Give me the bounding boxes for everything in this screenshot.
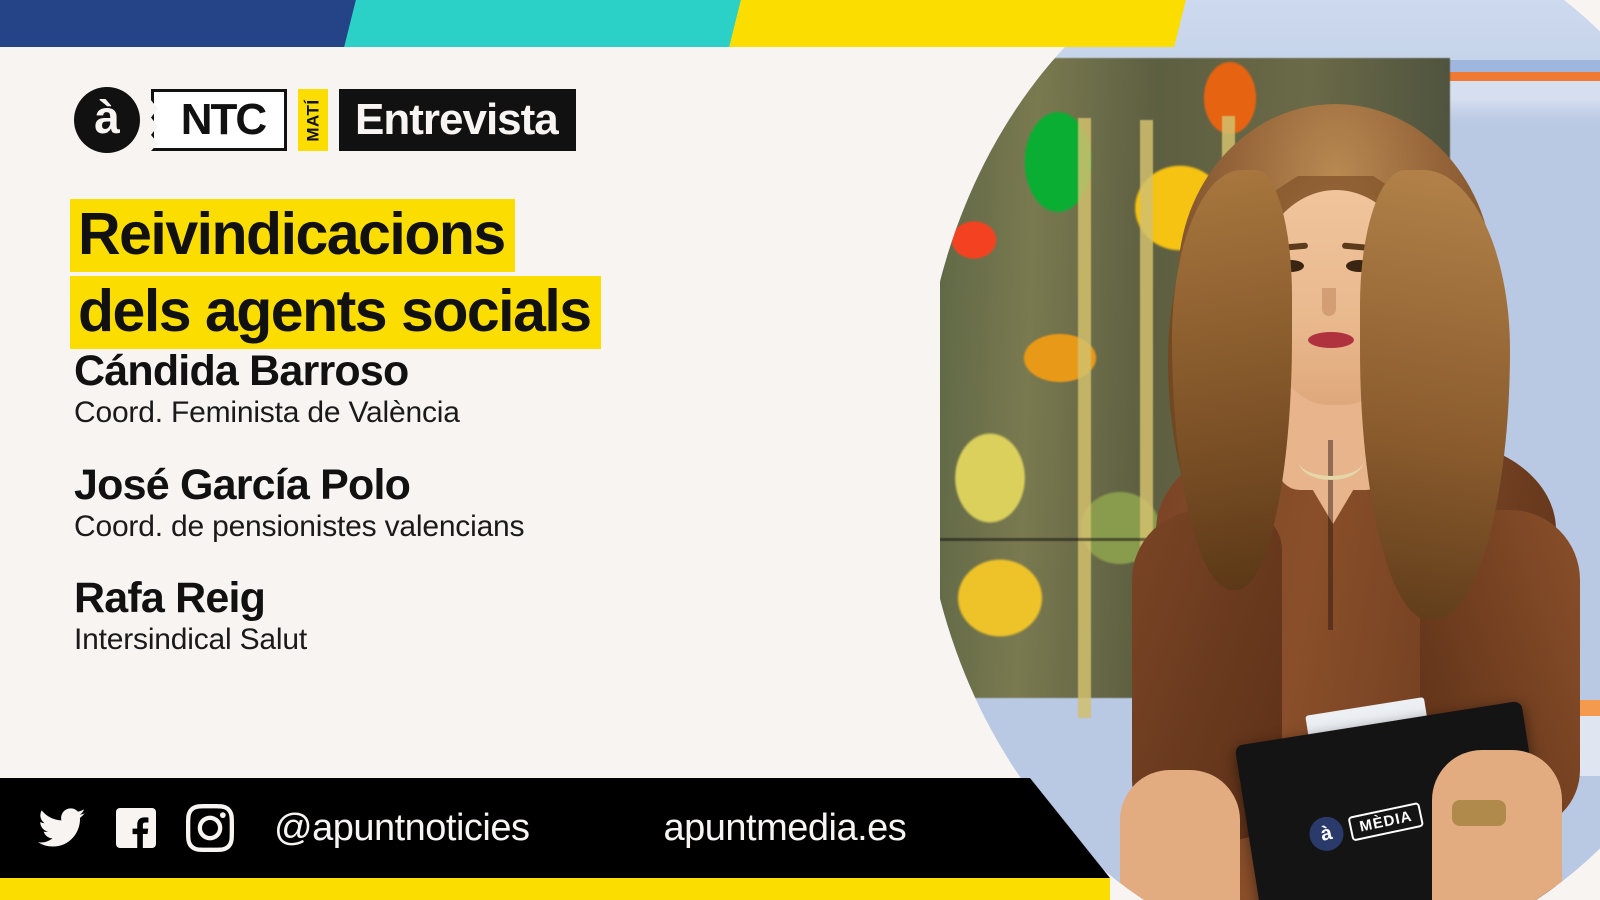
guest-entry: Cándida Barroso Coord. Feminista de Valè… bbox=[74, 349, 524, 431]
headline-line-2: dels agents socials bbox=[70, 276, 601, 349]
guest-name: José García Polo bbox=[74, 463, 524, 508]
presenter-lips bbox=[1308, 332, 1354, 348]
guest-entry: José García Polo Coord. de pensionistes … bbox=[74, 463, 524, 545]
presenter-necklace bbox=[1298, 440, 1364, 480]
top-bar-segment-teal bbox=[344, 0, 746, 47]
guest-role: Coord. Feminista de València bbox=[74, 396, 524, 431]
mati-daypart-badge: MATÍ bbox=[298, 89, 328, 151]
guest-role: Coord. de pensionistes valencians bbox=[74, 510, 524, 545]
headline: Reivindicacions dels agents socials bbox=[70, 199, 601, 353]
presenter-watch bbox=[1452, 800, 1506, 826]
program-logo-row: à NTC MATÍ Entrevista bbox=[74, 87, 576, 153]
apunt-channel-icon: à bbox=[74, 87, 140, 153]
footer-yellow-strip bbox=[0, 878, 1110, 900]
social-handle: @apuntnoticies bbox=[274, 807, 530, 850]
instagram-icon[interactable] bbox=[186, 804, 234, 852]
segment-label: Entrevista bbox=[355, 98, 558, 142]
footer-bar: @apuntnoticies apuntmedia.es bbox=[0, 778, 1110, 878]
twitter-icon[interactable] bbox=[38, 804, 86, 852]
folder-logo: à MÈDIA bbox=[1306, 797, 1425, 854]
presenter-nose bbox=[1322, 288, 1336, 316]
guest-name: Rafa Reig bbox=[74, 576, 524, 621]
presenter-left-forearm bbox=[1120, 770, 1240, 900]
top-bar-segment-navy bbox=[0, 0, 361, 47]
headline-line-1: Reivindicacions bbox=[70, 199, 515, 272]
broadcast-lower-third-screen: à MÈDIA à NTC MATÍ Entrevista bbox=[0, 0, 1600, 900]
presenter: à MÈDIA bbox=[1060, 110, 1600, 900]
top-bar-segment-yellow bbox=[729, 0, 1186, 47]
facebook-icon[interactable] bbox=[112, 804, 160, 852]
mati-daypart-label: MATÍ bbox=[305, 99, 322, 141]
guest-list: Cándida Barroso Coord. Feminista de Valè… bbox=[74, 349, 524, 690]
folder-media-label: MÈDIA bbox=[1347, 801, 1424, 841]
top-color-bar bbox=[0, 0, 1160, 47]
guest-role: Intersindical Salut bbox=[74, 623, 524, 658]
ntc-program-badge: NTC bbox=[151, 89, 287, 151]
guest-entry: Rafa Reig Intersindical Salut bbox=[74, 576, 524, 658]
ntc-program-label: NTC bbox=[181, 98, 265, 142]
segment-badge: Entrevista bbox=[339, 89, 576, 151]
website-url: apuntmedia.es bbox=[664, 807, 907, 850]
guest-name: Cándida Barroso bbox=[74, 349, 524, 394]
apunt-mark-icon: à bbox=[1306, 814, 1346, 854]
social-icon-group: @apuntnoticies bbox=[38, 804, 530, 852]
studio-video-feed: à MÈDIA bbox=[940, 0, 1600, 900]
